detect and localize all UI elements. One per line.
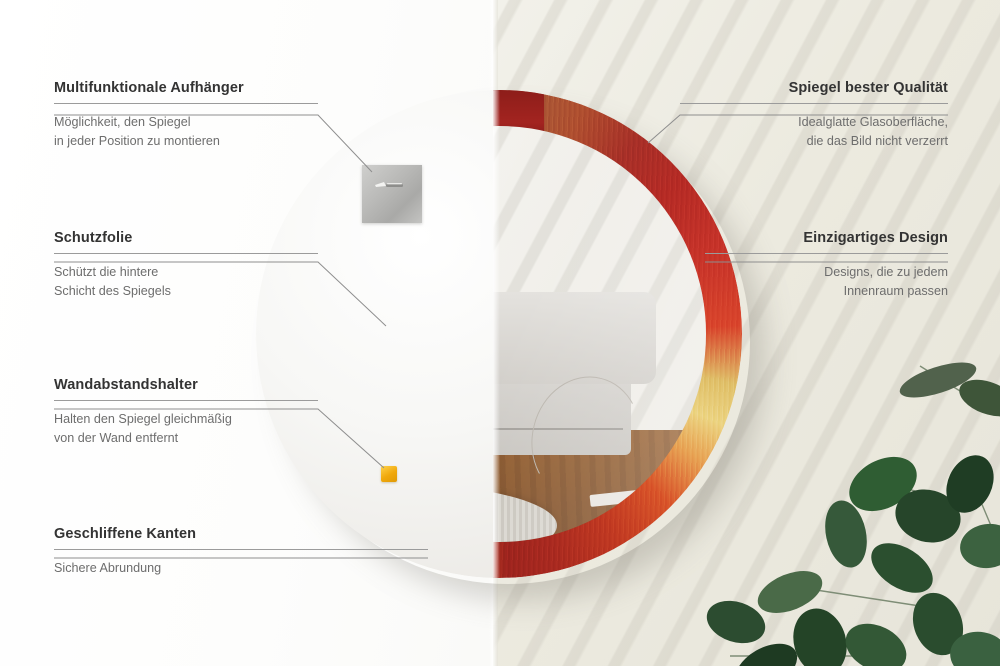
callout-spiegel-bester-qualitaet: Spiegel bester Qualität Idealglatte Glas… (680, 80, 948, 150)
callout-title: Spiegel bester Qualität (680, 80, 948, 96)
callout-geschliffene-kanten: Geschliffene Kanten Sichere Abrundung (54, 526, 428, 578)
callout-description-line2: Schicht des Spiegels (54, 282, 318, 301)
callout-einzigartiges-design: Einzigartiges Design Designs, die zu jed… (705, 230, 948, 300)
callout-description-line1: Schützt die hintere (54, 263, 318, 282)
callout-description-line1: Sichere Abrundung (54, 559, 428, 578)
callout-wandabstandshalter: Wandabstandshalter Halten den Spiegel gl… (54, 377, 318, 447)
callout-description-line1: Idealglatte Glasoberfläche, (680, 113, 948, 132)
callout-title: Einzigartiges Design (705, 230, 948, 246)
callout-multifunktionale-aufhaenger: Multifunktionale Aufhänger Möglichkeit, … (54, 80, 318, 150)
mirror-product (256, 90, 742, 578)
callout-rule (680, 103, 948, 104)
callout-description-line1: Designs, die zu jedem (705, 263, 948, 282)
hanger-plate (362, 165, 422, 223)
mirror-split-edge (493, 90, 500, 578)
infographic-stage: Multifunktionale Aufhänger Möglichkeit, … (0, 0, 1000, 666)
callout-rule (54, 253, 318, 254)
callout-rule (705, 253, 948, 254)
callout-description-line1: Halten den Spiegel gleichmäßig (54, 410, 318, 429)
callout-description-line2: die das Bild nicht verzerrt (680, 132, 948, 151)
callout-description-line2: in jeder Position zu montieren (54, 132, 318, 151)
callout-description-line2: von der Wand entfernt (54, 429, 318, 448)
callout-schutzfolie: Schutzfolie Schützt die hintere Schicht … (54, 230, 318, 300)
callout-title: Multifunktionale Aufhänger (54, 80, 318, 96)
callout-title: Geschliffene Kanten (54, 526, 428, 542)
keyhole-slot-icon (374, 176, 408, 184)
callout-description-line2: Innenraum passen (705, 282, 948, 301)
callout-title: Wandabstandshalter (54, 377, 318, 393)
callout-rule (54, 400, 318, 401)
callout-rule (54, 549, 428, 550)
spacer-pad (381, 466, 397, 482)
callout-rule (54, 103, 318, 104)
callout-title: Schutzfolie (54, 230, 318, 246)
callout-description-line1: Möglichkeit, den Spiegel (54, 113, 318, 132)
